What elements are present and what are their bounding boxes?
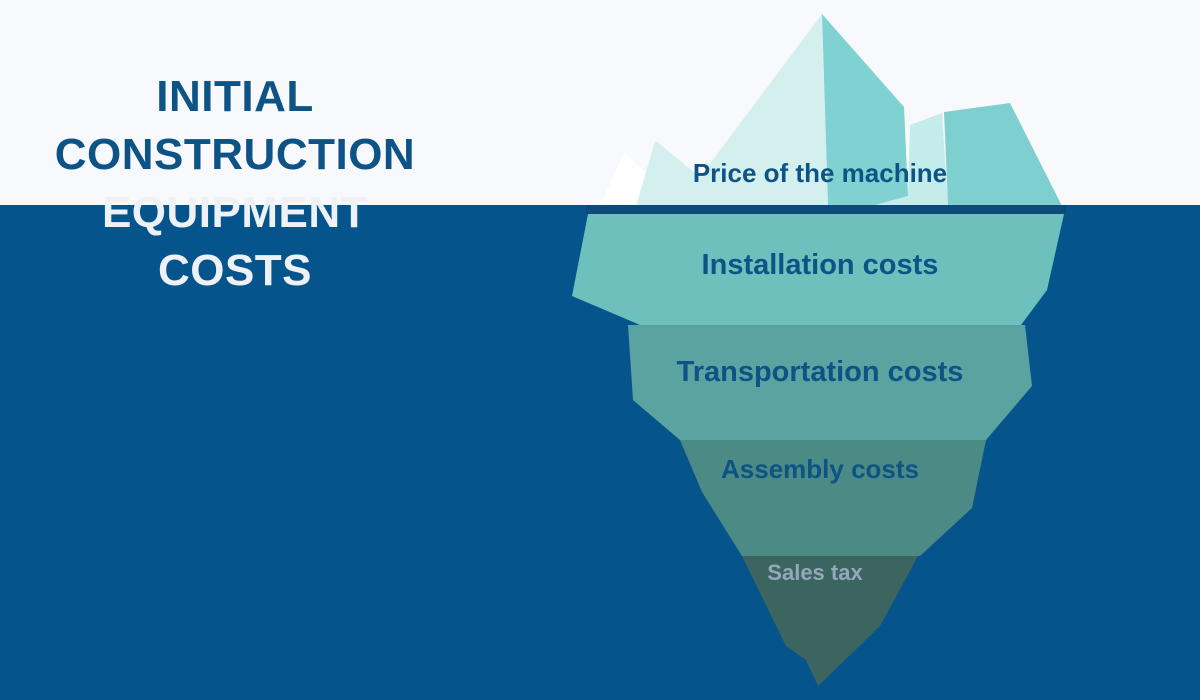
title-line-3: EQUIPMENT xyxy=(20,184,450,242)
ice-peak-right-facet xyxy=(822,14,908,206)
title-line-4: COSTS xyxy=(20,242,450,300)
waterline-shadow xyxy=(586,205,1066,214)
layer-salestax-shape xyxy=(742,556,918,686)
layer-transportation-shape xyxy=(628,325,1032,440)
ice-main-left-facet xyxy=(640,14,828,206)
title-line-1: INITIAL xyxy=(20,68,450,126)
layer-installation-shape xyxy=(572,214,1064,325)
layer-assembly-shape xyxy=(680,440,986,556)
page-title: INITIAL CONSTRUCTION EQUIPMENT COSTS xyxy=(20,68,450,300)
ice-right-peak-facet xyxy=(944,103,1062,206)
title-line-2: CONSTRUCTION xyxy=(20,126,450,184)
infographic-canvas: INITIAL CONSTRUCTION EQUIPMENT COSTS Pri… xyxy=(0,0,1200,700)
